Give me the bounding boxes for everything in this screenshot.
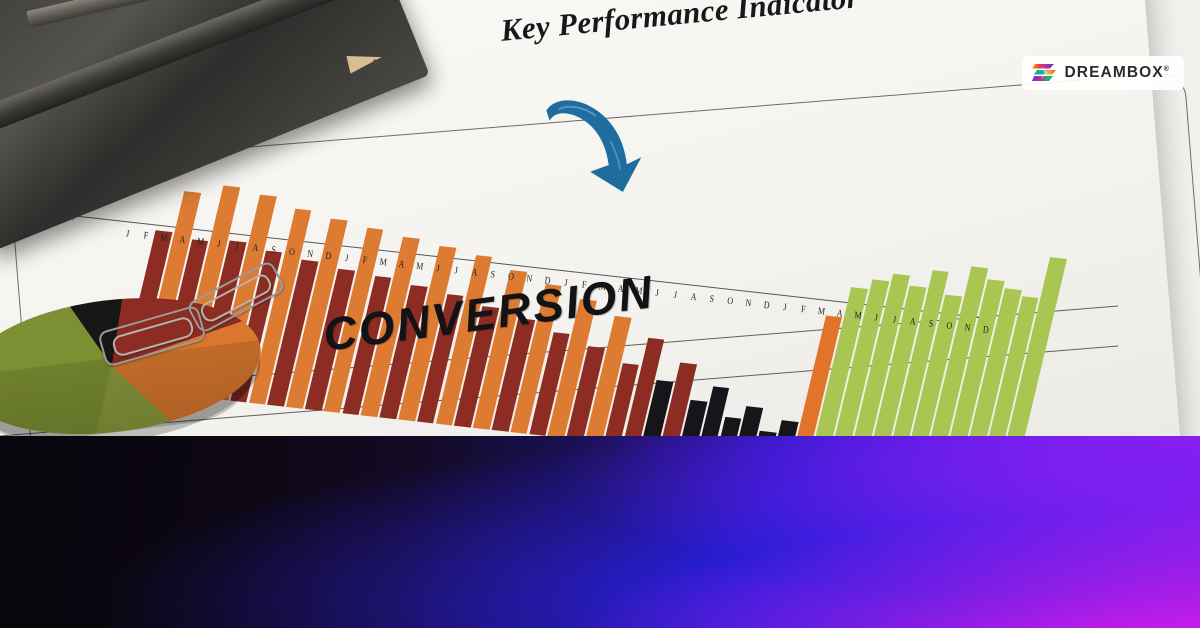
page-root: Key Performance Indicator 0 JFMAMJJASOND… (0, 0, 1200, 628)
chart-month-tick: M (155, 231, 173, 244)
chart-month-tick: J (776, 301, 794, 314)
chart-month-tick: S (922, 317, 940, 330)
chart-month-tick: F (137, 229, 155, 242)
chart-month-tick: F (795, 303, 813, 316)
dreambox-rainbow-icon (1032, 62, 1056, 84)
chart-month-tick: J (119, 227, 137, 240)
chart-month-tick: F (356, 254, 374, 267)
dreambox-wordmark: DREAMBOX (1065, 64, 1164, 81)
chart-month-tick: M (849, 309, 867, 322)
chart-month-tick: N (959, 321, 977, 334)
chart-month-tick: S (484, 268, 502, 281)
chart-month-tick: A (247, 241, 265, 254)
dreambox-logo[interactable]: DREAMBOX® (1022, 56, 1185, 90)
chart-month-tick: A (393, 258, 411, 271)
chart-month-tick: J (868, 311, 886, 324)
chart-month-tick: J (886, 313, 904, 326)
chart-month-tick: S (703, 292, 721, 305)
chart-month-tick: A (831, 307, 849, 320)
chart-month-tick: M (411, 260, 429, 273)
hero-photo: Key Performance Indicator 0 JFMAMJJASOND… (0, 0, 1200, 436)
dreambox-trademark: ® (1164, 66, 1170, 73)
chart-month-tick: O (721, 294, 739, 307)
chart-month-tick: D (977, 323, 995, 336)
chart-month-tick: A (466, 266, 484, 279)
chart-month-tick: S (265, 243, 283, 256)
dreambox-logo-text: DREAMBOX® (1065, 64, 1171, 82)
chart-month-tick: D (758, 299, 776, 312)
chart-month-tick: A (174, 233, 192, 246)
chart-month-tick: M (813, 305, 831, 318)
chart-month-tick: J (338, 251, 356, 264)
chart-month-tick: A (685, 290, 703, 303)
chart-month-tick: N (301, 247, 319, 260)
chart-month-tick: A (904, 315, 922, 328)
chart-month-tick: J (429, 262, 447, 275)
chart-month-tick: O (941, 319, 959, 332)
chart-month-tick: J (228, 239, 246, 252)
curved-down-right-arrow-icon (532, 88, 657, 204)
chart-month-tick: D (320, 249, 338, 262)
chart-month-tick: M (192, 235, 210, 248)
chart-month-tick: J (210, 237, 228, 250)
promo-banner: Ads DBX Insights Conversion Rate: How to… (0, 436, 1200, 628)
chart-month-tick: O (283, 245, 301, 258)
chart-month-tick: J (667, 288, 685, 301)
chart-month-tick: J (448, 264, 466, 277)
chart-month-tick: M (375, 256, 393, 269)
chart-month-tick: N (740, 297, 758, 310)
